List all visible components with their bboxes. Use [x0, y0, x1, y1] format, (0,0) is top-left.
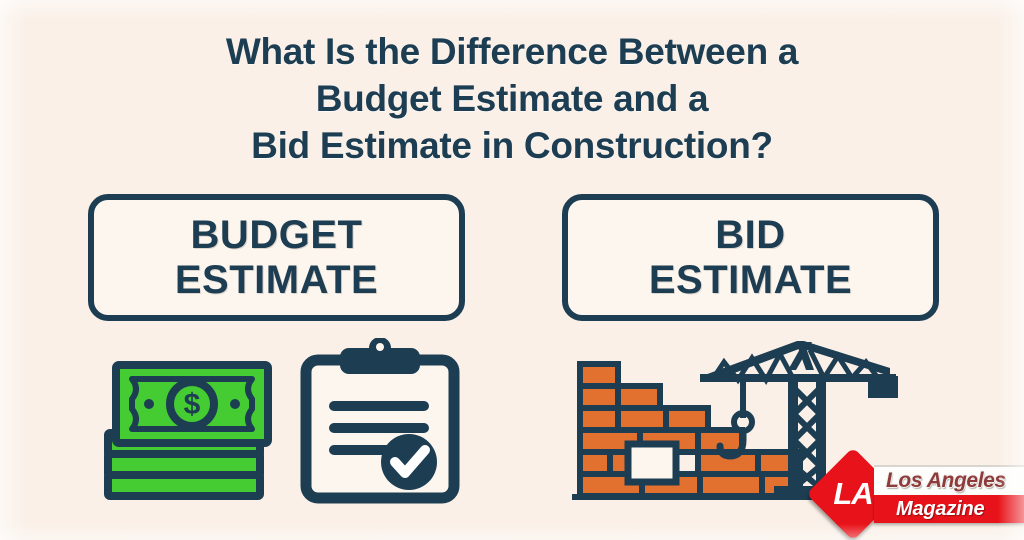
logo-text-los-angeles: Los Angeles [886, 469, 1006, 493]
bid-label-line-2: ESTIMATE [649, 258, 852, 303]
dollar-symbol: $ [184, 388, 201, 421]
title-line-1: What Is the Difference Between a [0, 28, 1024, 75]
infographic-canvas: What Is the Difference Between a Budget … [0, 0, 1024, 540]
budget-label-line-2: ESTIMATE [175, 258, 378, 303]
title-line-3: Bid Estimate in Construction? [0, 122, 1024, 169]
budget-estimate-label-box: BUDGET ESTIMATE [88, 194, 465, 321]
bid-estimate-label-box: BID ESTIMATE [562, 194, 939, 321]
page-title: What Is the Difference Between a Budget … [0, 28, 1024, 169]
bid-label-line-1: BID [715, 213, 785, 258]
clipboard-check-icon [298, 338, 463, 506]
money-stack-icon: $ [98, 355, 278, 500]
window-opening [628, 444, 676, 482]
la-magazine-logo: LA Los Angeles Magazine [812, 447, 1024, 540]
title-line-2: Budget Estimate and a [0, 75, 1024, 122]
logo-banner-magazine: Magazine [874, 495, 1024, 523]
logo-text-magazine: Magazine [896, 498, 984, 521]
logo-banner-los-angeles: Los Angeles [874, 465, 1024, 495]
budget-label-line-1: BUDGET [191, 213, 363, 258]
